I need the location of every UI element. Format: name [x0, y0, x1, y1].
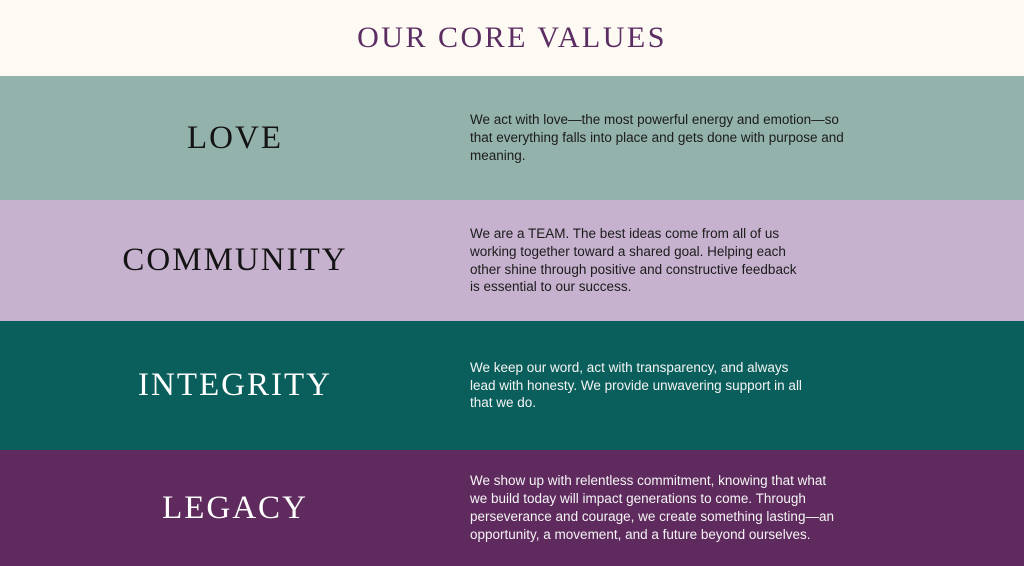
- value-row-legacy: LEGACY We show up with relentless commit…: [0, 450, 1024, 566]
- value-description-community: We are a TEAM. The best ideas come from …: [470, 225, 796, 296]
- value-row-community: COMMUNITY We are a TEAM. The best ideas …: [0, 200, 1024, 321]
- page-title: Our Core Values: [357, 21, 667, 55]
- value-label-cell-love: LOVE: [0, 76, 470, 200]
- page-header: Our Core Values: [0, 0, 1024, 76]
- value-body-cell-community: We are a TEAM. The best ideas come from …: [470, 200, 1024, 321]
- value-label-cell-integrity: INTEGRITY: [0, 321, 470, 450]
- value-row-integrity: INTEGRITY We keep our word, act with tra…: [0, 321, 1024, 450]
- value-title-community: COMMUNITY: [122, 244, 347, 277]
- value-label-cell-community: COMMUNITY: [0, 200, 470, 321]
- value-description-legacy: We show up with relentless commitment, k…: [470, 472, 834, 543]
- value-body-cell-integrity: We keep our word, act with transparency,…: [470, 321, 1024, 450]
- value-label-cell-legacy: LEGACY: [0, 450, 470, 566]
- value-title-integrity: INTEGRITY: [138, 369, 332, 402]
- value-body-cell-love: We act with love—the most powerful energ…: [470, 76, 1024, 200]
- core-values-page: Our Core Values LOVE We act with love—th…: [0, 0, 1024, 566]
- value-body-cell-legacy: We show up with relentless commitment, k…: [470, 450, 1024, 566]
- value-row-love: LOVE We act with love—the most powerful …: [0, 76, 1024, 200]
- value-title-legacy: LEGACY: [162, 492, 308, 525]
- value-description-integrity: We keep our word, act with transparency,…: [470, 359, 802, 412]
- value-title-love: LOVE: [187, 122, 283, 155]
- value-description-love: We act with love—the most powerful energ…: [470, 111, 844, 164]
